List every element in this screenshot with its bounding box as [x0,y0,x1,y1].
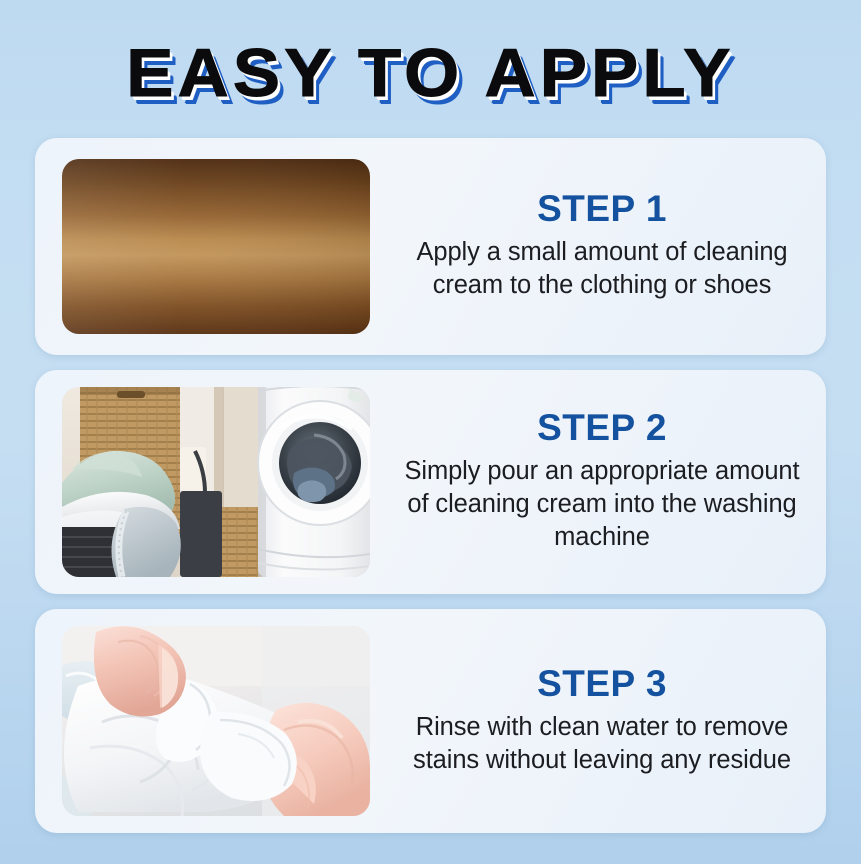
header: EASY TO APPLY [0,0,861,138]
washing-machine-laundry-image [62,387,370,577]
step-card-1[interactable]: STEP 1 Apply a small amount of cleaning … [35,138,826,355]
step-card-2[interactable]: STEP 2 Simply pour an appropriate amount… [35,370,826,594]
step-body: Apply a small amount of cleaning cream t… [392,236,812,302]
step-body: Simply pour an appropriate amount of cle… [392,455,812,554]
step-body: Rinse with clean water to remove stains … [392,711,812,776]
step-title: STEP 3 [392,665,812,704]
step-title: STEP 2 [392,409,812,448]
step-text-1: STEP 1 Apply a small amount of cleaning … [370,190,826,302]
step-title: STEP 1 [392,190,812,229]
steps-list: STEP 1 Apply a small amount of cleaning … [0,138,861,833]
step-text-2: STEP 2 Simply pour an appropriate amount… [370,409,826,554]
hands-rinsing-garment-image [62,626,370,816]
page-title: EASY TO APPLY [126,39,734,107]
step-text-3: STEP 3 Rinse with clean water to remove … [370,665,826,776]
cleaning-cream-closeup-image [62,159,370,334]
step-card-3[interactable]: STEP 3 Rinse with clean water to remove … [35,609,826,833]
